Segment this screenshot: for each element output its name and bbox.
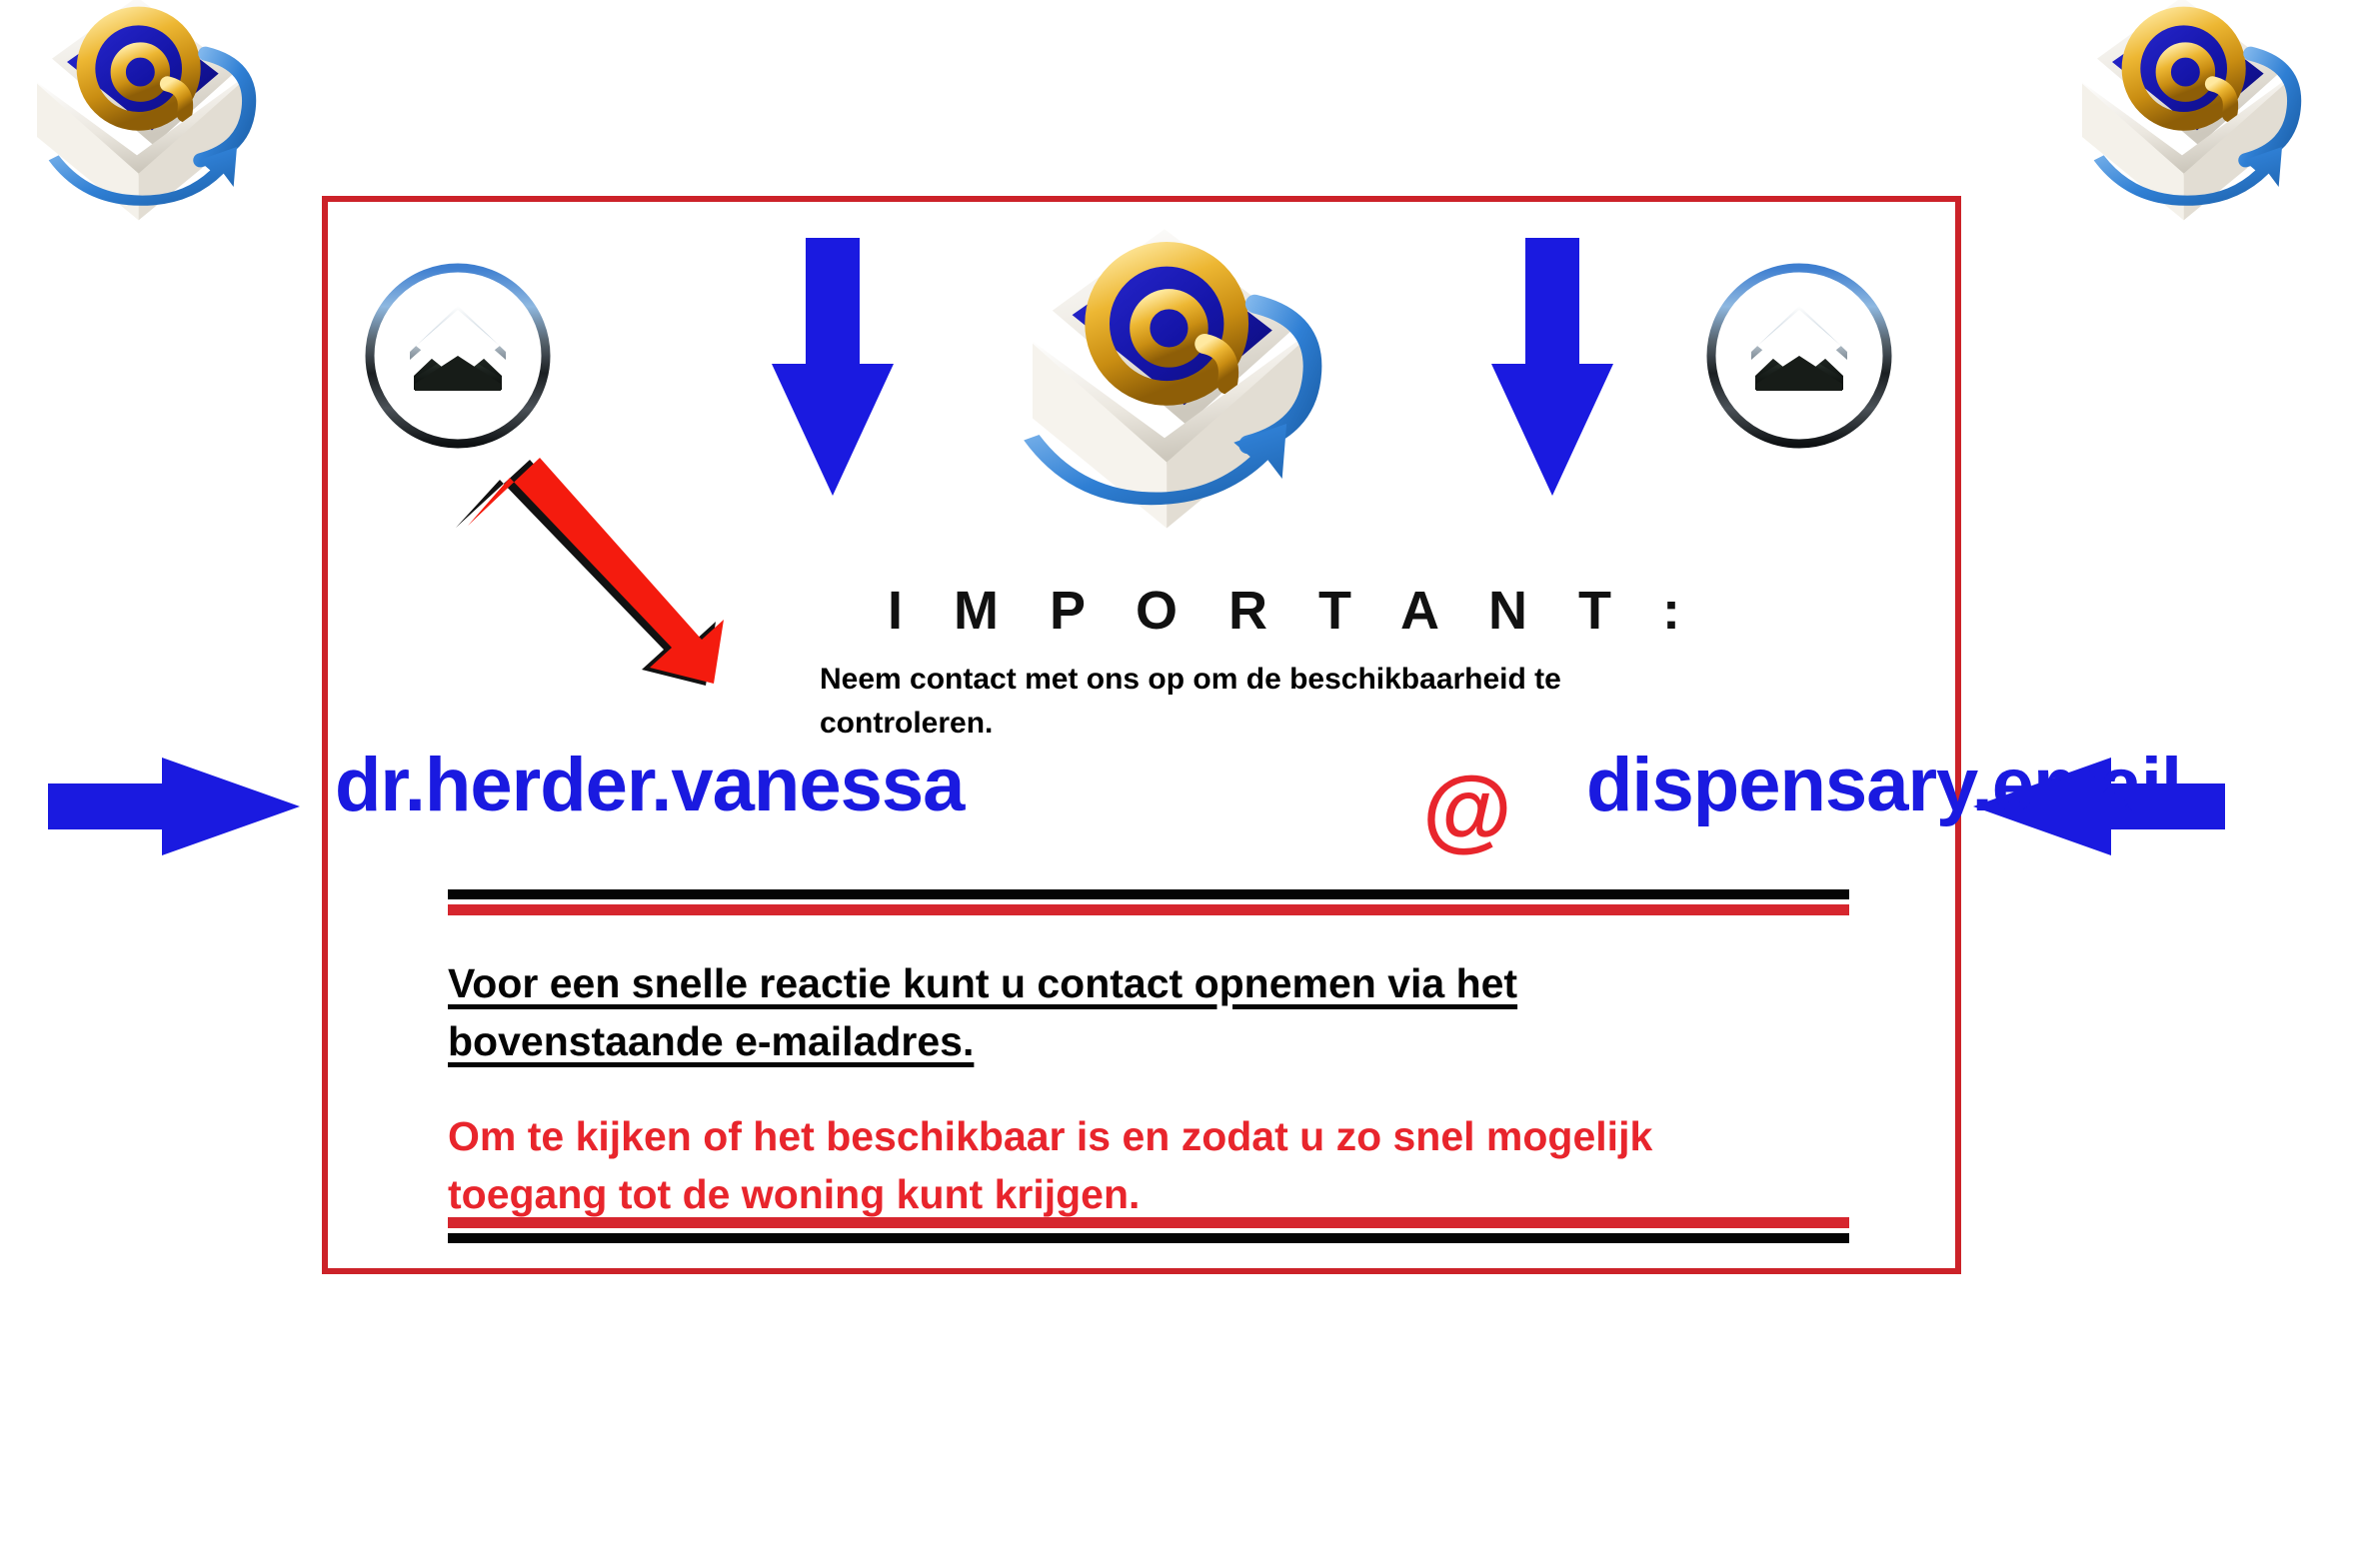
email-domain-part[interactable]: dispensary.email	[1586, 742, 2181, 828]
red-diagonal-arrow-icon	[440, 440, 730, 690]
chrome-circle-envelope-icon	[358, 256, 558, 456]
blue-right-arrow-icon	[44, 752, 304, 861]
divider-red-line	[448, 904, 1849, 915]
chrome-circle-envelope-icon	[1699, 256, 1899, 456]
blue-down-arrow-icon	[1487, 232, 1617, 502]
divider-black-line	[448, 889, 1849, 899]
blue-down-arrow-icon	[768, 232, 898, 502]
email-envelope-at-icon	[1000, 205, 1329, 555]
poster-canvas: I M P O R T A N T : Neem contact met ons…	[0, 0, 2380, 1552]
email-envelope-at-icon	[0, 0, 302, 232]
email-address-row: dr.herder.vanessa @ dispensary.email	[325, 740, 1964, 879]
divider-black-line	[448, 1233, 1849, 1243]
black-instruction-text: Voor een snelle reactie kunt u contact o…	[448, 954, 1627, 1070]
divider-red-line	[448, 1217, 1849, 1228]
divider-bottom	[448, 1217, 1849, 1243]
red-instruction-text: Om te kijken of het beschikbaar is en zo…	[448, 1107, 1727, 1223]
subtitle-text: Neem contact met ons op om de beschikbaa…	[820, 658, 1639, 747]
black-instruction-underlined: Voor een snelle reactie kunt u contact o…	[448, 960, 1517, 1064]
email-local-part[interactable]: dr.herder.vanessa	[335, 742, 964, 828]
page-title: I M P O R T A N T :	[888, 580, 1698, 642]
divider-top	[448, 889, 1849, 915]
at-symbol-icon: @	[1422, 764, 1512, 855]
email-envelope-at-icon	[2017, 0, 2347, 232]
